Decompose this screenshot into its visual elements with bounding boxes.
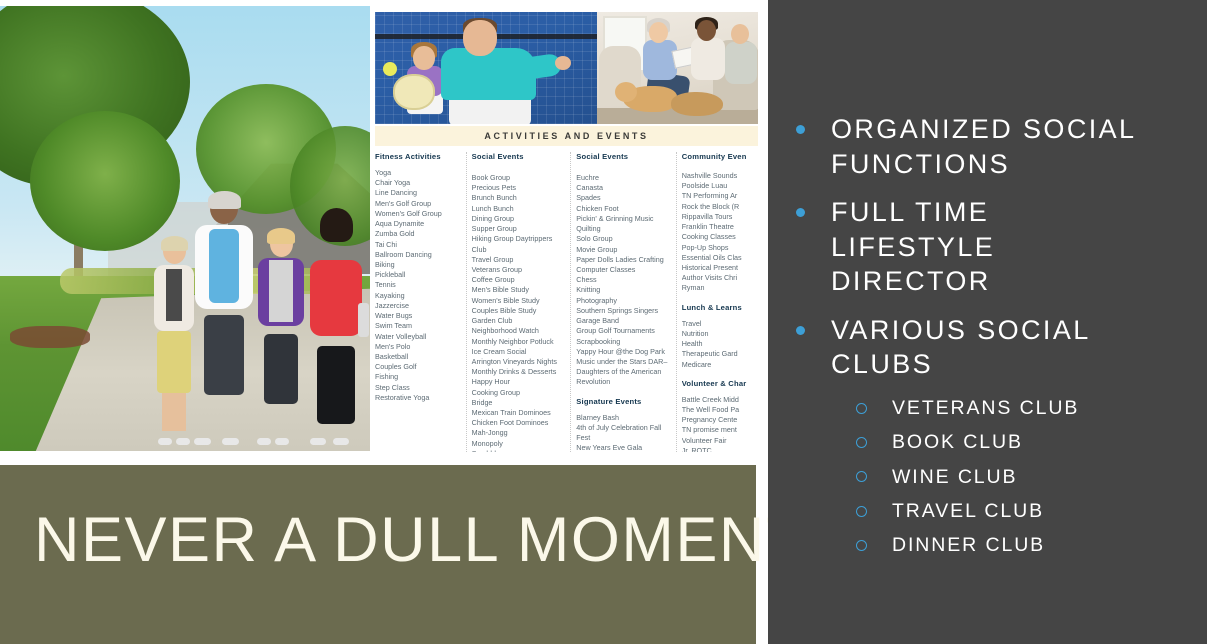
- list-item: Scrabble: [472, 449, 565, 452]
- sub-bullet-item-wine-club: WINE CLUB: [856, 465, 1197, 489]
- column-subheading-volunteer: Volunteer & Char: [682, 379, 747, 388]
- list-item: Jazzercise: [375, 301, 460, 311]
- person-woman-3: [253, 231, 309, 443]
- list-item: Franklin Theatre: [682, 222, 747, 232]
- list-item: Cooking Classes: [682, 232, 747, 242]
- walking-women-photo: [0, 6, 370, 451]
- list-item: Quilting: [576, 224, 669, 234]
- list-item: Therapeutic Gard: [682, 349, 747, 359]
- list-item: Volunteer Fair: [682, 436, 747, 446]
- list-item: Spades: [576, 193, 669, 203]
- list-item: Precious Pets: [472, 183, 565, 193]
- person-2-head: [697, 20, 716, 41]
- list-item: TN Performing Ar: [682, 191, 747, 201]
- pickleball-paddle: [393, 74, 435, 110]
- list-item: Bridge: [472, 398, 565, 408]
- page-title: NEVER A DULL MOMENT: [34, 509, 806, 572]
- list-item: Solo Group: [576, 234, 669, 244]
- list-item: Paper Dolls Ladies Crafting: [576, 255, 669, 265]
- list-item: Mexican Train Dominoes: [472, 408, 565, 418]
- sub-bullet-label: WINE CLUB: [892, 465, 1017, 489]
- sub-bullet-list: VETERANS CLUB BOOK CLUB WINE CLUB TRAVEL…: [856, 396, 1197, 558]
- bullet-circle-icon: [856, 437, 867, 448]
- list-item: Chicken Foot: [576, 204, 669, 214]
- list-item: Men's Polo: [375, 342, 460, 352]
- list-item: Lunch Bunch: [472, 204, 565, 214]
- column-social-events-2: Social Events EuchreCanastaSpadesChicken…: [576, 152, 676, 452]
- dog-1-head: [615, 82, 637, 102]
- sub-bullet-item-book-club: BOOK CLUB: [856, 430, 1197, 454]
- banner-title: ACTIVITIES AND EVENTS: [484, 131, 648, 141]
- list-item: Water Bugs: [375, 311, 460, 321]
- mulch-bed: [10, 326, 90, 348]
- brochure-photo-strip: [375, 12, 758, 124]
- list-item: Yoga: [375, 168, 460, 178]
- list-item: Jr. ROTC: [682, 446, 747, 452]
- list-item: Chess: [576, 275, 669, 285]
- list-item: Southern Springs Singers: [576, 306, 669, 316]
- sub-bullet-label: VETERANS CLUB: [892, 396, 1079, 420]
- bullet-item-various-social-clubs: VARIOUS SOCIAL CLUBS: [796, 313, 1197, 382]
- bullet-circle-icon: [856, 506, 867, 517]
- column-heading: Social Events: [576, 152, 669, 161]
- list-item: Rock the Block (R: [682, 202, 747, 212]
- bullet-dot-icon: [796, 208, 805, 217]
- list-item: Swim Team: [375, 321, 460, 331]
- list-item: Revolution: [576, 377, 669, 387]
- list-item: Monthly Drinks & Desserts: [472, 367, 565, 377]
- list-item: Photography: [576, 296, 669, 306]
- title-bar: NEVER A DULL MOMENT: [0, 465, 756, 644]
- list-item: Coffee Group: [472, 275, 565, 285]
- list-item: Travel: [682, 319, 747, 329]
- list-item: Blarney Bash: [576, 413, 669, 423]
- list-item: Pickin' & Grinning Music: [576, 214, 669, 224]
- sub-bullet-label: TRAVEL CLUB: [892, 499, 1044, 523]
- list-item: Scrapbooking: [576, 337, 669, 347]
- list-item: Aqua Dynamite: [375, 219, 460, 229]
- list-item: Ryman: [682, 283, 747, 293]
- bullet-circle-icon: [856, 471, 867, 482]
- sub-bullet-label: BOOK CLUB: [892, 430, 1023, 454]
- list-item: Couples Golf: [375, 362, 460, 372]
- bullet-label: ORGANIZED SOCIAL FUNCTIONS: [831, 112, 1161, 181]
- list-item: Travel Group: [472, 255, 565, 265]
- list-item: Step Class: [375, 383, 460, 393]
- list-item: Nashville Sounds: [682, 171, 747, 181]
- list-item: Monthly Neighbor Potluck: [472, 337, 565, 347]
- person-3-head: [731, 24, 749, 44]
- activities-brochure: ACTIVITIES AND EVENTS Fitness Activities…: [371, 6, 762, 452]
- list-item: Men's Golf Group: [375, 199, 460, 209]
- list-item: Biking: [375, 260, 460, 270]
- list-item: Poolside Luau: [682, 181, 747, 191]
- list-item: Essential Oils Clas: [682, 253, 747, 263]
- list-item: Computer Classes: [576, 265, 669, 275]
- list-item: Basketball: [375, 352, 460, 362]
- column-heading: Fitness Activities: [375, 152, 460, 161]
- list-item: Garden Club: [472, 316, 565, 326]
- sub-bullet-label: DINNER CLUB: [892, 533, 1045, 557]
- list-item: Happy Hour: [472, 377, 565, 387]
- bullet-dot-icon: [796, 125, 805, 134]
- list-item: Cooking Group: [472, 388, 565, 398]
- list-item: Men's Bible Study: [472, 285, 565, 295]
- list-item: Nutrition: [682, 329, 747, 339]
- person-2-body: [691, 38, 725, 80]
- tree-middle: [30, 111, 180, 251]
- list-item: Club: [472, 245, 565, 255]
- list-item: Tennis: [375, 280, 460, 290]
- man-hand: [555, 56, 571, 70]
- list-item: Monopoly: [472, 439, 565, 449]
- list-item: Water Volleyball: [375, 332, 460, 342]
- list-item: Mah-Jongg: [472, 428, 565, 438]
- list-item: Movie Group: [576, 245, 669, 255]
- sub-bullet-item-veterans-club: VETERANS CLUB: [856, 396, 1197, 420]
- sub-bullet-item-dinner-club: DINNER CLUB: [856, 533, 1197, 557]
- list-item: Ballroom Dancing: [375, 250, 460, 260]
- column-subitems: Blarney Bash4th of July Celebration Fall…: [576, 413, 669, 452]
- list-item: 4th of July Celebration Fall: [576, 423, 669, 433]
- column-fitness-activities: Fitness Activities YogaChair YogaLine Da…: [375, 152, 467, 452]
- list-item: Knitting: [576, 285, 669, 295]
- column-subheading-lunch-learns: Lunch & Learns: [682, 303, 747, 312]
- list-item: Canasta: [576, 183, 669, 193]
- list-item: Chicken Foot Dominoes: [472, 418, 565, 428]
- activities-banner: ACTIVITIES AND EVENTS: [375, 126, 758, 146]
- list-item: Pickleball: [375, 270, 460, 280]
- column-heading: Social Events: [472, 152, 565, 161]
- list-item: Neighborhood Watch: [472, 326, 565, 336]
- list-item: Arrington Vineyards Nights: [472, 357, 565, 367]
- woman-head: [413, 46, 435, 70]
- list-item: Brunch Bunch: [472, 193, 565, 203]
- column-items: Book GroupPrecious PetsBrunch BunchLunch…: [472, 173, 565, 452]
- list-item: Music under the Stars DAR–: [576, 357, 669, 367]
- list-item: Book Group: [472, 173, 565, 183]
- list-item: Fest: [576, 433, 669, 443]
- list-item: Dining Group: [472, 214, 565, 224]
- column-heading: Community Even: [682, 152, 747, 161]
- column-items: YogaChair YogaLine DancingMen's Golf Gro…: [375, 168, 460, 403]
- list-item: Couples Bible Study: [472, 306, 565, 316]
- brochure-columns: Fitness Activities YogaChair YogaLine Da…: [375, 152, 758, 452]
- person-woman-2: [188, 193, 260, 443]
- person-1-head: [649, 22, 668, 43]
- list-item: Euchre: [576, 173, 669, 183]
- list-item: TN promise ment: [682, 425, 747, 435]
- list-item: Pop-Up Shops: [682, 243, 747, 253]
- column-subheading-signature: Signature Events: [576, 397, 669, 406]
- list-item: Restorative Yoga: [375, 393, 460, 403]
- list-item: Women's Golf Group: [375, 209, 460, 219]
- bullet-list: ORGANIZED SOCIAL FUNCTIONS FULL TIME LIF…: [796, 112, 1197, 568]
- column-subitems-2: Battle Creek MiddThe Well Food PaPregnan…: [682, 395, 747, 452]
- column-social-events-1: Social Events Book GroupPrecious PetsBru…: [472, 152, 572, 452]
- list-item: Daughters of the American: [576, 367, 669, 377]
- list-item: Rippavilla Tours: [682, 212, 747, 222]
- list-item: The Well Food Pa: [682, 405, 747, 415]
- man-head: [463, 20, 497, 56]
- sub-bullet-item-travel-club: TRAVEL CLUB: [856, 499, 1197, 523]
- slide-canvas: ACTIVITIES AND EVENTS Fitness Activities…: [0, 0, 1207, 644]
- person-3-body: [725, 42, 757, 84]
- list-item: Hiking Group Daytrippers: [472, 234, 565, 244]
- person-woman-4: [305, 211, 367, 443]
- list-item: Pregnancy Cente: [682, 415, 747, 425]
- list-item: Line Dancing: [375, 188, 460, 198]
- bullet-circle-icon: [856, 403, 867, 414]
- dog-2: [671, 92, 723, 116]
- list-item: Medicare: [682, 360, 747, 370]
- column-community-events: Community Even Nashville SoundsPoolside …: [682, 152, 753, 452]
- bullet-label: VARIOUS SOCIAL CLUBS: [831, 313, 1161, 382]
- list-item: Group Golf Tournaments: [576, 326, 669, 336]
- list-item: Tai Chi: [375, 240, 460, 250]
- list-item: Chair Yoga: [375, 178, 460, 188]
- list-item: Women's Bible Study: [472, 296, 565, 306]
- bullet-item-full-time-lifestyle-director: FULL TIME LIFESTYLE DIRECTOR: [796, 195, 1197, 299]
- bullet-circle-icon: [856, 540, 867, 551]
- list-item: Yappy Hour @the Dog Park: [576, 347, 669, 357]
- bullet-dot-icon: [796, 326, 805, 335]
- list-item: Battle Creek Midd: [682, 395, 747, 405]
- water-bottle: [358, 303, 369, 337]
- list-item: Supper Group: [472, 224, 565, 234]
- living-room-photo: [597, 12, 758, 124]
- person-1-body: [643, 40, 677, 80]
- list-item: Historical Present: [682, 263, 747, 273]
- list-item: Veterans Group: [472, 265, 565, 275]
- list-item: Zumba Gold: [375, 229, 460, 239]
- column-subitems: TravelNutritionHealthTherapeutic GardMed…: [682, 319, 747, 370]
- list-item: Health: [682, 339, 747, 349]
- list-item: New Years Eve Gala: [576, 443, 669, 452]
- list-item: Kayaking: [375, 291, 460, 301]
- pickleball-photo: [375, 12, 597, 124]
- list-item: Fishing: [375, 372, 460, 382]
- column-items: Nashville SoundsPoolside LuauTN Performi…: [682, 171, 747, 294]
- bullet-item-organized-social-functions: ORGANIZED SOCIAL FUNCTIONS: [796, 112, 1197, 181]
- column-items: EuchreCanastaSpadesChicken FootPickin' &…: [576, 173, 669, 388]
- list-item: Garage Band: [576, 316, 669, 326]
- list-item: Ice Cream Social: [472, 347, 565, 357]
- bullet-label: FULL TIME LIFESTYLE DIRECTOR: [831, 195, 1161, 299]
- pickleball-ball: [383, 62, 397, 76]
- right-content-panel: ORGANIZED SOCIAL FUNCTIONS FULL TIME LIF…: [768, 0, 1207, 644]
- list-item: Author Visits Chri: [682, 273, 747, 283]
